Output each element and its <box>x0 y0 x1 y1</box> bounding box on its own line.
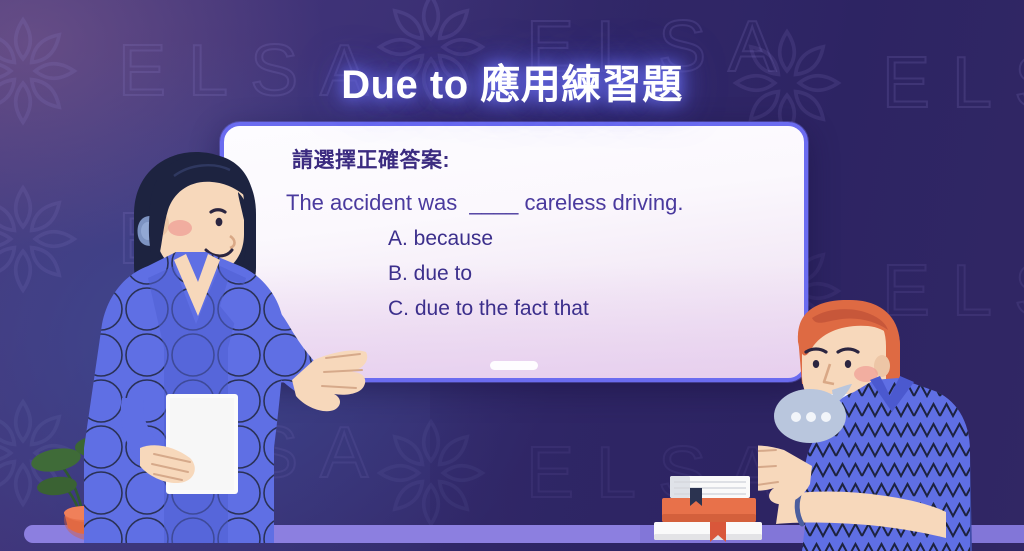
slide-canvas: ELSA ELSA <box>0 0 1024 551</box>
answer-option-a[interactable]: A. because <box>388 228 778 249</box>
speech-bubble-three-dots <box>772 384 856 451</box>
whiteboard-marker-tray <box>490 361 538 370</box>
answer-option-b[interactable]: B. due to <box>388 263 778 284</box>
answer-option-c[interactable]: C. due to the fact that <box>388 298 778 319</box>
teacher-illustration <box>78 148 368 548</box>
book-stack-illustration <box>648 462 768 549</box>
slide-title: Due to 應用練習題 <box>0 52 1024 110</box>
slide-title-text: Due to 應用練習題 <box>341 52 683 110</box>
